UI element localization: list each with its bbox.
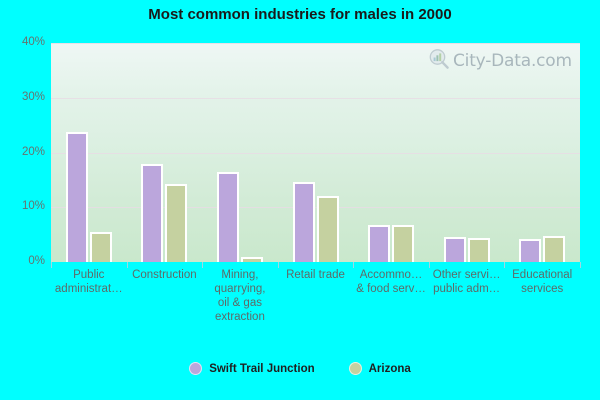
x-axis-label: Retail trade <box>278 268 354 282</box>
bar[interactable] <box>141 164 163 262</box>
y-axis-tick-label: 0% <box>4 255 45 267</box>
gridline <box>51 98 580 99</box>
chart-container: Most common industries for males in 2000… <box>0 0 600 400</box>
bar[interactable] <box>165 184 187 262</box>
legend-label: Arizona <box>369 363 411 375</box>
x-axis-tick <box>580 262 581 268</box>
x-axis-label: Mining,quarrying,oil & gasextraction <box>202 268 278 324</box>
x-axis-label-line: Public <box>51 268 127 282</box>
bar[interactable] <box>293 182 315 262</box>
plot-area <box>51 43 580 262</box>
chart-legend: Swift Trail JunctionArizona <box>0 362 600 375</box>
x-axis-label-line: quarrying, <box>202 282 278 296</box>
legend-label: Swift Trail Junction <box>209 363 314 375</box>
x-axis-label-line: Educational <box>504 268 580 282</box>
bar[interactable] <box>468 238 490 262</box>
x-axis-label-line: Accommo… <box>353 268 429 282</box>
x-axis-label-line: Retail trade <box>278 268 354 282</box>
x-axis-label-line: Construction <box>127 268 203 282</box>
bar[interactable] <box>444 237 466 262</box>
x-axis-label-line: & food serv… <box>353 282 429 296</box>
x-axis-label: Accommo…& food serv… <box>353 268 429 296</box>
bar[interactable] <box>368 225 390 262</box>
y-axis-tick-label: 20% <box>4 146 45 158</box>
x-axis-label: Other servi…public adm… <box>429 268 505 296</box>
x-axis-label: Educationalservices <box>504 268 580 296</box>
legend-swatch-icon <box>189 362 202 375</box>
bar[interactable] <box>217 172 239 262</box>
y-axis-tick-label: 30% <box>4 91 45 103</box>
bar[interactable] <box>543 236 565 262</box>
x-axis-label: Construction <box>127 268 203 282</box>
x-axis-label-line: oil & gas <box>202 296 278 310</box>
x-axis-label-line: administrat… <box>51 282 127 296</box>
x-axis-label: Publicadministrat… <box>51 268 127 296</box>
gridline <box>51 153 580 154</box>
y-axis-tick-label: 40% <box>4 36 45 48</box>
magnifier-barchart-icon <box>428 48 450 75</box>
gridline <box>51 43 580 44</box>
bar[interactable] <box>66 132 88 262</box>
x-axis: Publicadministrat…ConstructionMining,qua… <box>51 262 580 362</box>
watermark: City-Data.com <box>428 48 572 74</box>
bar[interactable] <box>392 225 414 262</box>
x-axis-label-line: public adm… <box>429 282 505 296</box>
bar[interactable] <box>317 196 339 262</box>
x-axis-label-line: Mining, <box>202 268 278 282</box>
legend-item[interactable]: Swift Trail Junction <box>189 362 314 375</box>
gridline <box>51 207 580 208</box>
x-axis-label-line: extraction <box>202 310 278 324</box>
watermark-text: City-Data.com <box>453 51 572 71</box>
legend-swatch-icon <box>349 362 362 375</box>
bar[interactable] <box>519 239 541 262</box>
x-axis-tick <box>51 262 52 268</box>
x-axis-label-line: Other servi… <box>429 268 505 282</box>
x-axis-label-line: services <box>504 282 580 296</box>
y-axis-tick-label: 10% <box>4 200 45 212</box>
legend-item[interactable]: Arizona <box>349 362 411 375</box>
bar[interactable] <box>90 232 112 262</box>
